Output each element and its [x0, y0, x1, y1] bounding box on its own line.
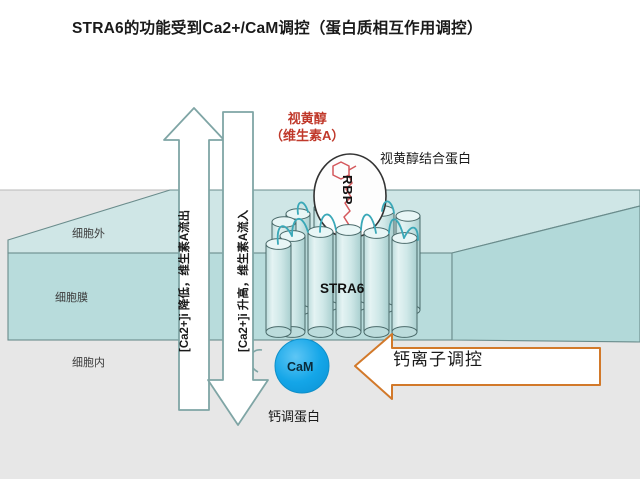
- rbp-inner-label: RBP: [340, 175, 355, 205]
- label-intracellular: 细胞内: [72, 354, 105, 370]
- label-extracellular: 细胞外: [72, 225, 105, 241]
- label-membrane: 细胞膜: [55, 289, 88, 305]
- cam-caption: 钙调蛋白: [268, 406, 320, 425]
- cam-inner-label: CaM: [287, 360, 313, 374]
- page-title: STRA6的功能受到Ca2+/CaM调控（蛋白质相互作用调控）: [72, 16, 483, 38]
- figure-canvas: STRA6的功能受到Ca2+/CaM调控（蛋白质相互作用调控） 细胞外 细胞膜 …: [0, 0, 640, 479]
- stra6-label: STRA6: [320, 281, 364, 296]
- rbp-label: 视黄醇结合蛋白: [380, 148, 471, 167]
- calcium-regulation-label: 钙离子调控: [393, 345, 483, 370]
- influx-arrow-label: [Ca2+]i 升高，维生素A流入: [235, 210, 251, 352]
- efflux-arrow-label: [Ca2+]i 降低，维生素A流出: [176, 210, 192, 352]
- retinol-label-line1: 视黄醇: [288, 111, 327, 126]
- retinol-label: 视黄醇 （维生素A）: [270, 110, 344, 144]
- retinol-label-line2: （维生素A）: [270, 128, 344, 143]
